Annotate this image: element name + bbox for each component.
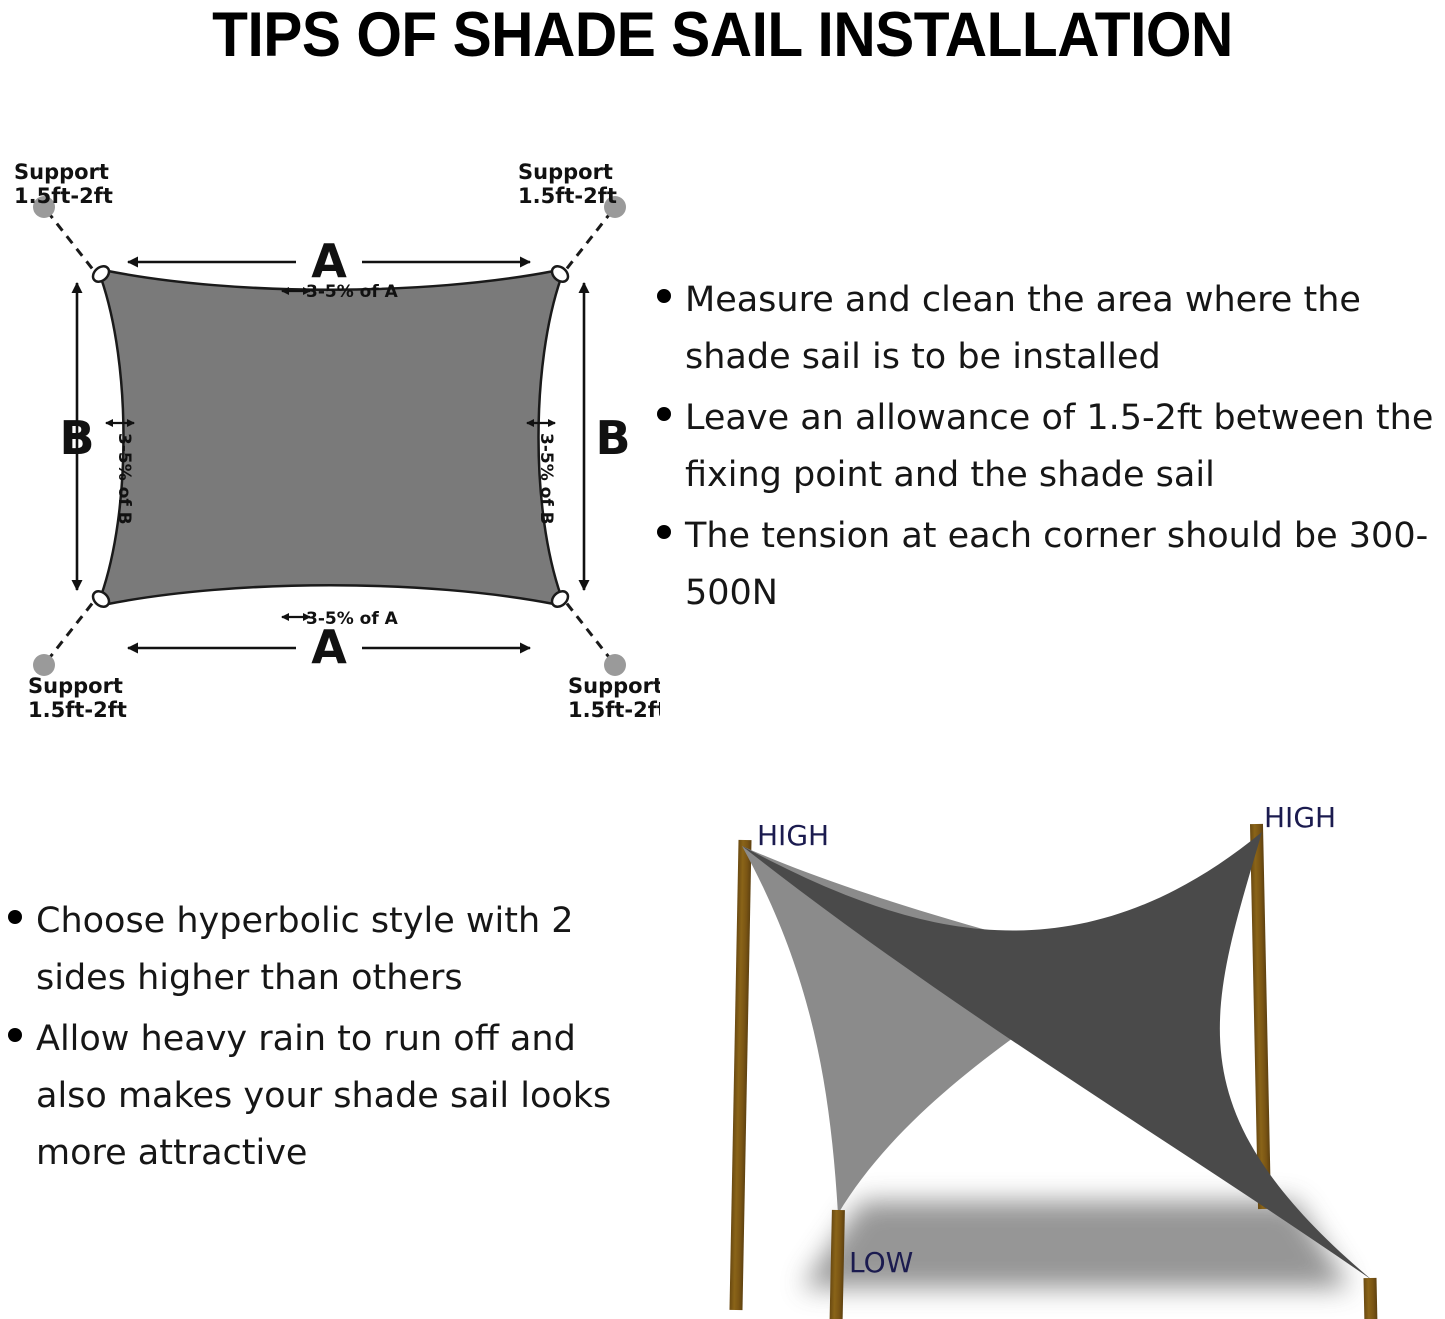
- list-item: Allow heavy rain to run off and also mak…: [8, 1011, 618, 1182]
- label-low-left: LOW: [849, 1246, 913, 1279]
- post-low-right: [1364, 1278, 1382, 1319]
- installation-tips-list: Measure and clean the area where the sha…: [657, 272, 1445, 626]
- support-label-bottom-right-line2: 1.5ft-2ft: [568, 698, 660, 722]
- support-label-top-right-line1: Support: [518, 160, 613, 184]
- dimension-letter-b-left: B: [59, 411, 94, 465]
- label-high-left: HIGH: [757, 819, 829, 852]
- list-item-text: Measure and clean the area where the sha…: [685, 272, 1445, 386]
- hyperbolic-sail-illustration: HIGH HIGH LOW LOW: [650, 780, 1440, 1319]
- list-item-text: Allow heavy rain to run off and also mak…: [36, 1011, 618, 1182]
- list-item: Choose hyperbolic style with 2 sides hig…: [8, 893, 618, 1007]
- list-item-text: The tension at each corner should be 300…: [685, 508, 1445, 622]
- list-item-text: Choose hyperbolic style with 2 sides hig…: [36, 893, 618, 1007]
- support-label-bottom-left-line2: 1.5ft-2ft: [28, 698, 127, 722]
- dimension-letter-a-top: A: [311, 234, 347, 288]
- rect-sail-diagram: A 3-5% of A A 3-5% of A B 3-5% of B B 3-…: [0, 155, 660, 735]
- bullet-dot-icon: [8, 910, 22, 924]
- curve-label-right: 3-5% of B: [536, 433, 556, 525]
- support-dot-bottom-left: [33, 654, 55, 676]
- support-label-top-right: Support 1.5ft-2ft: [518, 160, 617, 208]
- support-label-top-left-line2: 1.5ft-2ft: [14, 184, 113, 208]
- list-item: Leave an allowance of 1.5-2ft between th…: [657, 390, 1445, 504]
- bullet-dot-icon: [657, 525, 671, 539]
- shade-sail-shape: [101, 271, 561, 604]
- bullet-dot-icon: [657, 289, 671, 303]
- bullet-dot-icon: [8, 1028, 22, 1042]
- tether-bottom-left: [47, 596, 98, 661]
- label-high-right: HIGH: [1264, 801, 1336, 834]
- dimension-letter-b-right: B: [595, 411, 630, 465]
- support-label-bottom-right-line1: Support: [568, 674, 660, 698]
- support-label-bottom-left: Support 1.5ft-2ft: [28, 674, 127, 722]
- page-title: TIPS OF SHADE SAIL INSTALLATION: [51, 0, 1395, 70]
- support-label-bottom-left-line1: Support: [28, 674, 123, 698]
- support-dot-bottom-right: [604, 654, 626, 676]
- list-item-text: Leave an allowance of 1.5-2ft between th…: [685, 390, 1445, 504]
- bullet-dot-icon: [657, 407, 671, 421]
- curve-label-left: 3-5% of B: [114, 433, 134, 525]
- curve-label-bottom: 3-5% of A: [306, 609, 399, 629]
- tether-top-right: [561, 211, 612, 276]
- curve-label-top: 3-5% of A: [306, 282, 399, 302]
- list-item: Measure and clean the area where the sha…: [657, 272, 1445, 386]
- tether-bottom-right: [561, 596, 612, 661]
- hyperbolic-style-tips-list: Choose hyperbolic style with 2 sides hig…: [8, 893, 618, 1186]
- support-label-top-left: Support 1.5ft-2ft: [14, 160, 113, 208]
- support-label-top-left-line1: Support: [14, 160, 109, 184]
- support-label-bottom-right: Support 1.5ft-2ft: [568, 674, 660, 722]
- support-label-top-right-line2: 1.5ft-2ft: [518, 184, 617, 208]
- list-item: The tension at each corner should be 300…: [657, 508, 1445, 622]
- post-high-left: [729, 840, 751, 1310]
- tether-top-left: [47, 211, 98, 276]
